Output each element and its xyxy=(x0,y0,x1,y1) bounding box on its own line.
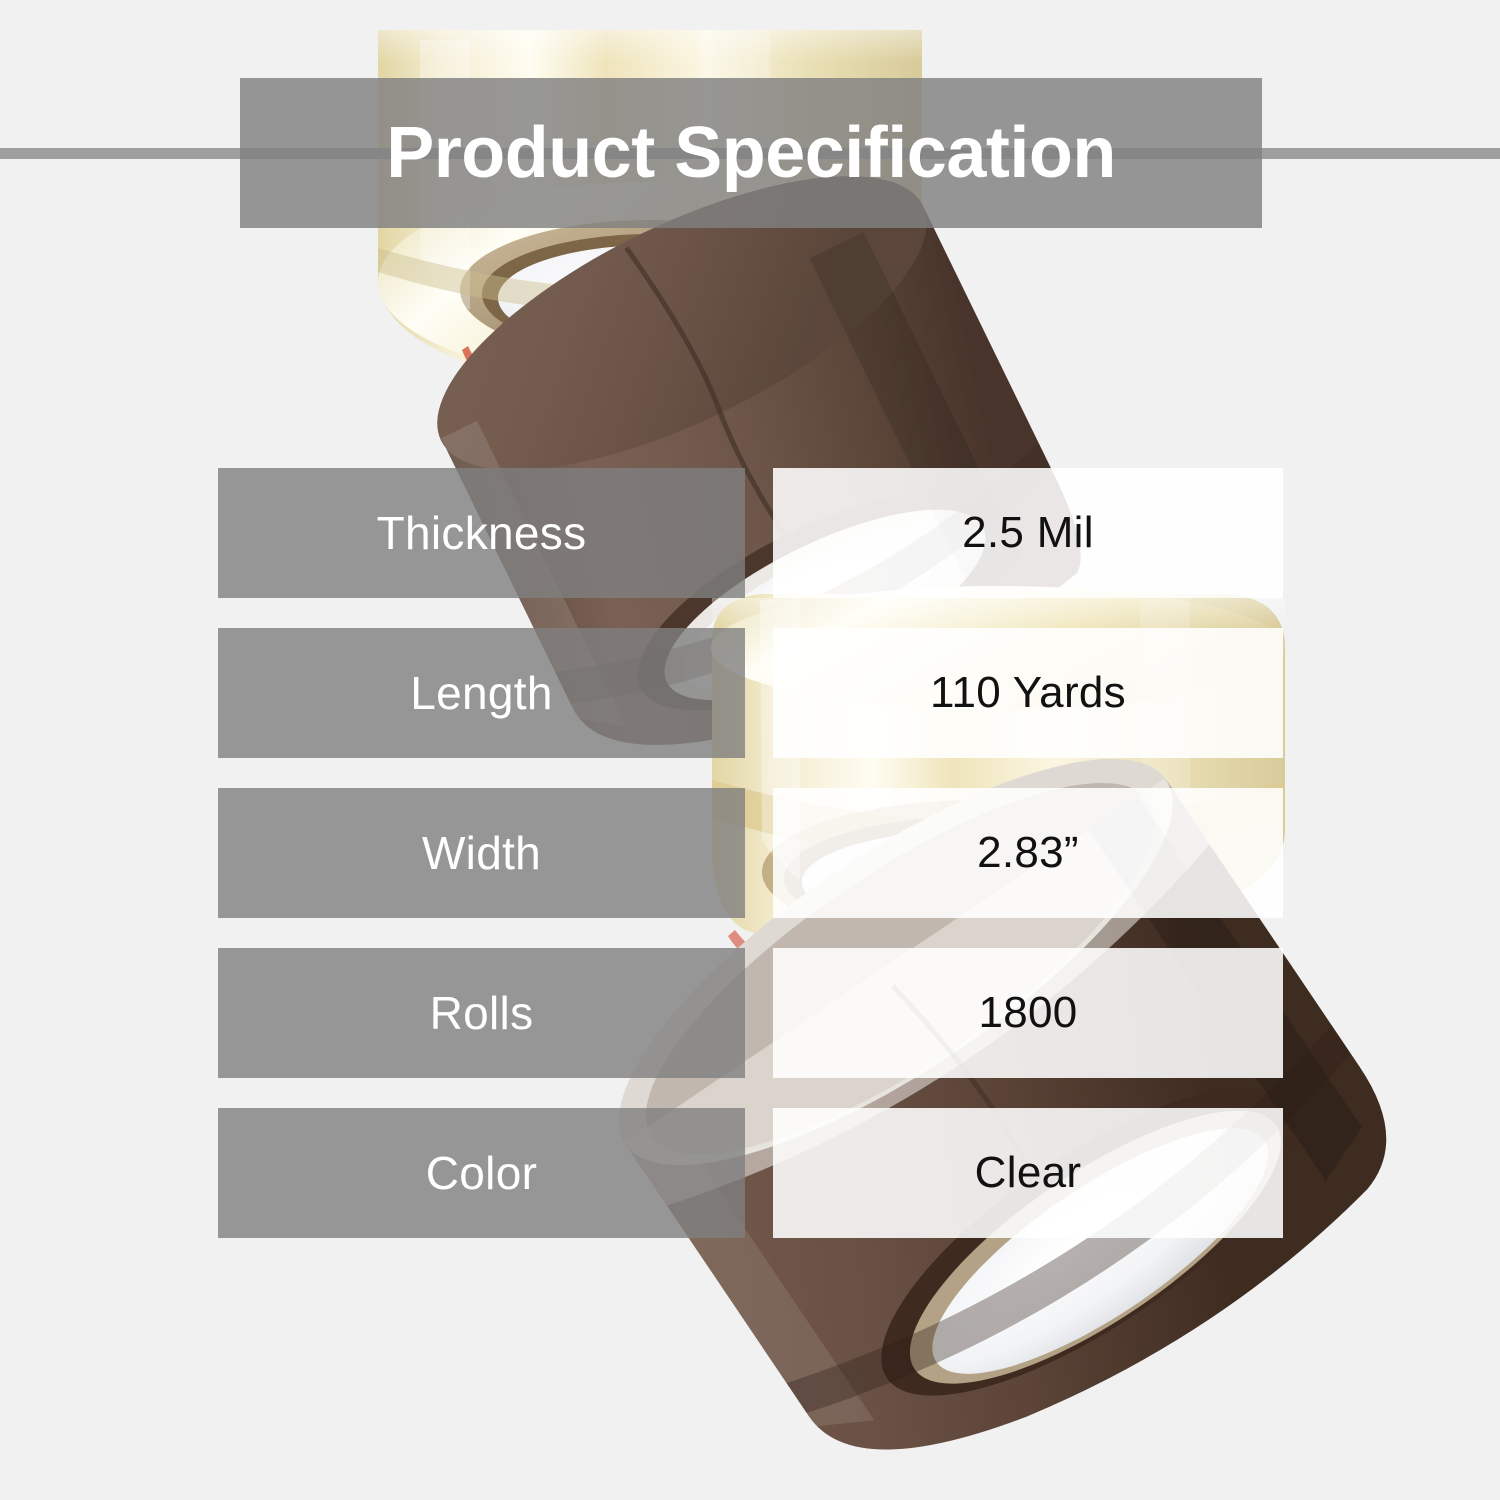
spec-value-color: Clear xyxy=(773,1108,1283,1238)
spec-label-text: Color xyxy=(426,1146,537,1200)
spec-label-text: Thickness xyxy=(377,506,587,560)
table-row: Rolls 1800 xyxy=(0,948,1500,1078)
spec-label-thickness: Thickness xyxy=(218,468,745,598)
title-banner: Product Specification xyxy=(240,78,1262,228)
table-row: Length 110 Yards xyxy=(0,628,1500,758)
page-title: Product Specification xyxy=(386,117,1116,189)
spec-label-text: Rolls xyxy=(430,986,534,1040)
specification-table: Thickness 2.5 Mil Length 110 Yards Width… xyxy=(0,468,1500,1238)
spec-value-length: 110 Yards xyxy=(773,628,1283,758)
spec-label-rolls: Rolls xyxy=(218,948,745,1078)
spec-value-text: 1800 xyxy=(978,988,1077,1038)
table-row: Thickness 2.5 Mil xyxy=(0,468,1500,598)
spec-value-thickness: 2.5 Mil xyxy=(773,468,1283,598)
spec-label-text: Length xyxy=(410,666,553,720)
spec-value-text: 2.5 Mil xyxy=(962,508,1094,558)
spec-label-length: Length xyxy=(218,628,745,758)
spec-value-width: 2.83” xyxy=(773,788,1283,918)
spec-value-text: 2.83” xyxy=(977,828,1079,878)
spec-value-text: 110 Yards xyxy=(930,668,1126,718)
table-row: Width 2.83” xyxy=(0,788,1500,918)
spec-value-rolls: 1800 xyxy=(773,948,1283,1078)
spec-value-text: Clear xyxy=(975,1148,1082,1198)
spec-label-color: Color xyxy=(218,1108,745,1238)
spec-label-text: Width xyxy=(422,826,541,880)
spec-label-width: Width xyxy=(218,788,745,918)
table-row: Color Clear xyxy=(0,1108,1500,1238)
